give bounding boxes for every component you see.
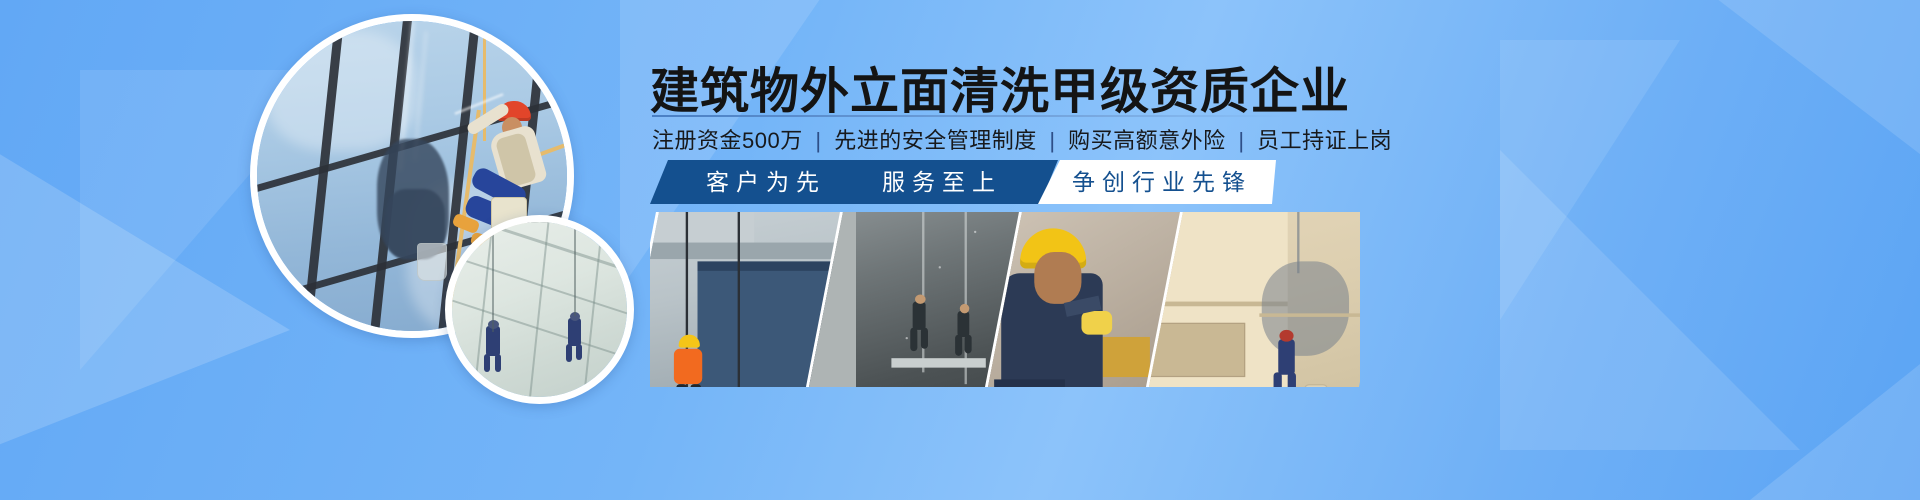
white-facade-scene <box>452 222 627 397</box>
slogan-2: 服务至上 <box>882 160 1002 204</box>
slogan-3: 争创行业先锋 <box>1072 160 1252 204</box>
subtitle-item-3: 购买高额意外险 <box>1068 128 1226 153</box>
beige-building-scene <box>1146 212 1360 387</box>
photo-strip <box>650 212 1360 387</box>
slogan-ribbon: 客户为先 服务至上 争创行业先锋 <box>650 160 1258 204</box>
circle-photo-small <box>445 215 634 404</box>
subtitle-sep-2: | <box>1043 128 1061 153</box>
subtitle-item-4: 员工持证上岗 <box>1257 128 1392 153</box>
title-divider <box>652 115 1292 117</box>
subtitle-sep-3: | <box>1232 128 1250 153</box>
subtitle-sep-1: | <box>809 128 827 153</box>
subtitle-line: 注册资金500万 | 先进的安全管理制度 | 购买高额意外险 | 员工持证上岗 <box>652 123 1392 155</box>
page-title: 建筑物外立面清洗甲级资质企业 <box>650 52 1350 123</box>
slogan-1: 客户为先 <box>706 160 826 204</box>
background-triangle-a <box>0 130 290 460</box>
promo-banner: 建筑物外立面清洗甲级资质企业 注册资金500万 | 先进的安全管理制度 | 购买… <box>0 0 1920 500</box>
subtitle-item-1: 注册资金500万 <box>652 128 803 153</box>
subtitle-item-2: 先进的安全管理制度 <box>834 128 1037 153</box>
